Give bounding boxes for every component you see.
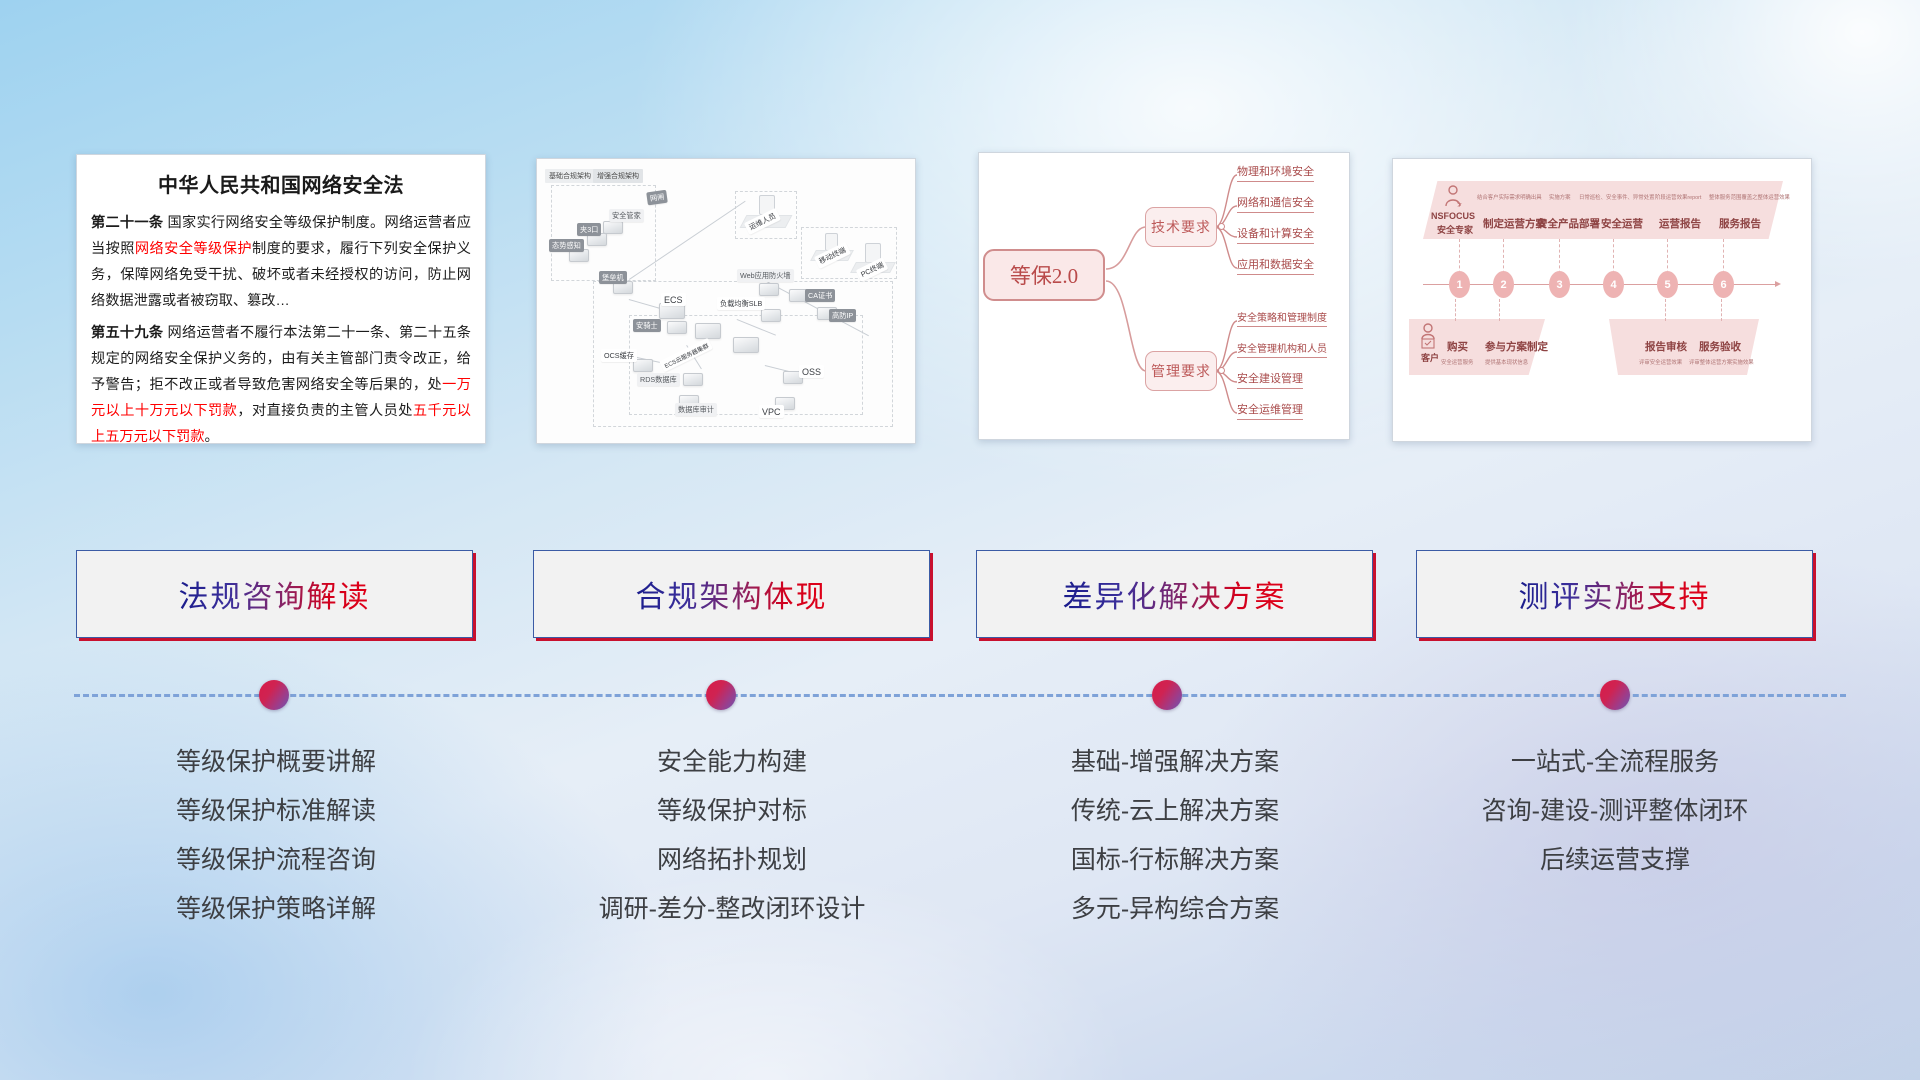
nsfocus-caption-top-6: 整体服务范围覆盖之整体运营效果: [1709, 193, 1790, 201]
mindmap-card: 等保2.0 技术要求 管理要求 物理和环境安全 网络和通信安全 设备和计算安全 …: [978, 152, 1350, 440]
mindmap-leaf-tech-1: 物理和环境安全: [1237, 163, 1314, 182]
law-card-title: 中华人民共和国网络安全法: [77, 169, 485, 198]
expert-person-icon: [1443, 185, 1463, 212]
headline-box-2[interactable]: 合规架构体现: [533, 550, 930, 638]
law-run-1-1: 网络安全等级保护: [135, 241, 252, 257]
arch-label-ca: CA证书: [805, 289, 835, 302]
nsfocus-caption-top-2: 结合客户实际需求明确出具: [1477, 193, 1542, 201]
mindmap-leaf-mgmt-4: 安全运维管理: [1237, 401, 1303, 420]
nsfocus-title-top-4: 安全运营: [1601, 216, 1643, 231]
nsfocus-title-bottom-5: 报告审核: [1645, 339, 1687, 354]
list-item: 多元-异构综合方案: [955, 897, 1395, 922]
list-item: 国标-行标解决方案: [955, 848, 1395, 873]
mindmap-leaf-tech-2: 网络和通信安全: [1237, 194, 1314, 213]
headline-box-1[interactable]: 法规咨询解读: [76, 550, 473, 638]
nsfocus-leader-b6: [1721, 299, 1722, 321]
arch-cube-manager: [603, 221, 623, 234]
headline-box-3[interactable]: 差异化解决方案: [976, 550, 1373, 638]
headline-label-2: 合规架构体现: [636, 572, 828, 616]
mindmap-branch-technical: 技术要求: [1145, 207, 1217, 247]
arch-cube-anqishi: [667, 321, 687, 334]
nsfocus-leader-b2: [1499, 299, 1500, 321]
law-paragraph-2: 第五十九条 网络运营者不履行本法第二十一条、第二十五条规定的网络安全保护义务的，…: [77, 321, 485, 444]
nsfocus-timeline-card: NSFOCUS 安全专家 客户 结合客户实际需求明确出具 制定运营方案 实施方案…: [1392, 158, 1812, 442]
law-paragraph-1: 第二十一条 国家实行网络安全等级保护制度。网络运营者应当按照网络安全等级保护制度…: [77, 211, 485, 315]
arch-cube-rds: [683, 373, 703, 386]
bullet-column-4: 一站式-全流程服务 咨询-建设-测评整体闭环 后续运营支撑: [1395, 750, 1835, 873]
law-run-2-4: 。: [205, 429, 219, 444]
law-article-label-1: 第二十一条: [91, 215, 163, 231]
mindmap-canvas: 等保2.0 技术要求 管理要求 物理和环境安全 网络和通信安全 设备和计算安全 …: [979, 153, 1349, 439]
nsfocus-step-node-6[interactable]: 6: [1713, 271, 1734, 298]
arch-label-manager: 安全管家: [609, 209, 644, 222]
arch-label-wangzha: 网闸: [646, 190, 668, 206]
nsfocus-expert-sub: 安全专家: [1437, 223, 1473, 236]
law-text-card: 中华人民共和国网络安全法 第二十一条 国家实行网络安全等级保护制度。网络运营者应…: [76, 154, 486, 444]
mindmap-leaf-tech-3: 设备和计算安全: [1237, 225, 1314, 244]
nsfocus-step-node-2[interactable]: 2: [1493, 271, 1514, 298]
law-article-label-2: 第五十九条: [91, 325, 163, 341]
arch-label-gaofang: 高防IP: [829, 309, 856, 322]
list-item: 安全能力构建: [512, 750, 952, 775]
mindmap-leaf-mgmt-3: 安全建设管理: [1237, 370, 1303, 389]
nsfocus-title-top-6: 服务报告: [1719, 216, 1761, 231]
arch-label-ecs: ECS: [661, 293, 686, 306]
arch-cube-ecs2: [695, 323, 721, 339]
arch-label-bastion: 堡垒机: [599, 271, 627, 284]
customer-person-icon: [1419, 323, 1437, 354]
nsfocus-leader-b1: [1455, 299, 1456, 321]
nsfocus-caption-top-5: 阶段运营效果report: [1655, 193, 1701, 201]
arch-label-situation: 态势感知: [549, 239, 584, 252]
arch-cube-slb: [761, 309, 781, 322]
list-item: 传统-云上解决方案: [955, 799, 1395, 824]
bullet-column-1: 等级保护概要讲解 等级保护标准解读 等级保护流程咨询 等级保护策略详解: [56, 750, 496, 922]
nsfocus-caption-bottom-2: 提供基本现状信息: [1485, 358, 1528, 366]
arch-label-waf: Web应用防火墙: [737, 269, 794, 282]
headline-box-4[interactable]: 测评实施支持: [1416, 550, 1813, 638]
nsfocus-caption-bottom-1: 安全运营服务: [1441, 358, 1473, 366]
nsfocus-step-node-1[interactable]: 1: [1449, 271, 1470, 298]
list-item: 等级保护流程咨询: [56, 848, 496, 873]
list-item: 一站式-全流程服务: [1395, 750, 1835, 775]
arch-label-vpc: VPC: [759, 405, 784, 418]
timeline-dot-1[interactable]: [259, 680, 289, 710]
nsfocus-title-bottom-1: 购买: [1447, 339, 1468, 354]
nsfocus-customer-name: 客户: [1421, 351, 1439, 364]
nsfocus-leader-b5: [1665, 299, 1666, 321]
nsfocus-caption-top-4: 日常巡检、安全事件、异常处置: [1579, 193, 1654, 201]
list-item: 后续运营支撑: [1395, 848, 1835, 873]
nsfocus-axis-arrow-icon: [1775, 281, 1781, 287]
mindmap-collapse-dot-management[interactable]: [1218, 367, 1225, 374]
nsfocus-step-node-4[interactable]: 4: [1603, 271, 1624, 298]
nsfocus-title-top-5: 运营报告: [1659, 216, 1701, 231]
architecture-canvas: 基础合规架构 增强合规架构: [537, 159, 915, 443]
list-item: 等级保护标准解读: [56, 799, 496, 824]
nsfocus-title-top-3: 安全产品部署: [1537, 216, 1600, 231]
mindmap-leaf-mgmt-1: 安全策略和管理制度: [1237, 309, 1327, 327]
list-item: 等级保护概要讲解: [56, 750, 496, 775]
arch-label-anqishi: 安骑士: [633, 319, 661, 332]
headline-label-4: 测评实施支持: [1519, 572, 1711, 616]
nsfocus-step-node-5[interactable]: 5: [1657, 271, 1678, 298]
arch-label-rds: RDS数据库: [637, 373, 680, 386]
timeline-dot-2[interactable]: [706, 680, 736, 710]
nsfocus-caption-top-3: 实施方案: [1549, 193, 1571, 201]
arch-tab-enhanced[interactable]: 增强合规架构: [593, 169, 643, 183]
timeline-dot-4[interactable]: [1600, 680, 1630, 710]
architecture-diagram-card: 基础合规架构 增强合规架构: [536, 158, 916, 444]
list-item: 等级保护策略详解: [56, 897, 496, 922]
arch-label-slb: 负载均衡SLB: [717, 297, 765, 310]
arch-label-jiankou: 夹3口: [577, 223, 601, 236]
headline-label-1: 法规咨询解读: [179, 572, 371, 616]
arch-cube-waf: [759, 283, 779, 296]
nsfocus-canvas: NSFOCUS 安全专家 客户 结合客户实际需求明确出具 制定运营方案 实施方案…: [1393, 159, 1811, 441]
arch-cube-ecs3: [733, 337, 759, 353]
mindmap-root-node: 等保2.0: [983, 249, 1105, 301]
arch-label-dbaudit: 数据库审计: [675, 403, 717, 416]
list-item: 咨询-建设-测评整体闭环: [1395, 799, 1835, 824]
nsfocus-caption-bottom-5: 评审安全运营效果: [1639, 358, 1682, 366]
mindmap-branch-management: 管理要求: [1145, 351, 1217, 391]
arch-label-oss: OSS: [799, 365, 824, 378]
law-run-2-2: ，对直接负责的主管人员处: [237, 403, 413, 419]
nsfocus-step-node-3[interactable]: 3: [1549, 271, 1570, 298]
list-item: 等级保护对标: [512, 799, 952, 824]
bullet-column-2: 安全能力构建 等级保护对标 网络拓扑规划 调研-差分-整改闭环设计: [512, 750, 952, 922]
headline-label-3: 差异化解决方案: [1063, 572, 1287, 616]
bullet-column-3: 基础-增强解决方案 传统-云上解决方案 国标-行标解决方案 多元-异构综合方案: [955, 750, 1395, 922]
mindmap-collapse-dot-technical[interactable]: [1218, 223, 1225, 230]
nsfocus-caption-bottom-6: 评审整体运营方案实施效果: [1689, 358, 1754, 366]
timeline-dashed-line: [74, 694, 1846, 697]
nsfocus-title-bottom-2: 参与方案制定: [1485, 339, 1548, 354]
arch-tab-basic[interactable]: 基础合规架构: [545, 169, 595, 183]
list-item: 调研-差分-整改闭环设计: [512, 897, 952, 922]
mindmap-leaf-mgmt-2: 安全管理机构和人员: [1237, 340, 1327, 358]
nsfocus-expert-name: NSFOCUS: [1431, 211, 1475, 221]
mindmap-leaf-tech-4: 应用和数据安全: [1237, 256, 1314, 275]
timeline-dot-3[interactable]: [1152, 680, 1182, 710]
list-item: 基础-增强解决方案: [955, 750, 1395, 775]
arch-label-ocs: OCS缓存: [601, 349, 637, 362]
nsfocus-title-bottom-6: 服务验收: [1699, 339, 1741, 354]
list-item: 网络拓扑规划: [512, 848, 952, 873]
